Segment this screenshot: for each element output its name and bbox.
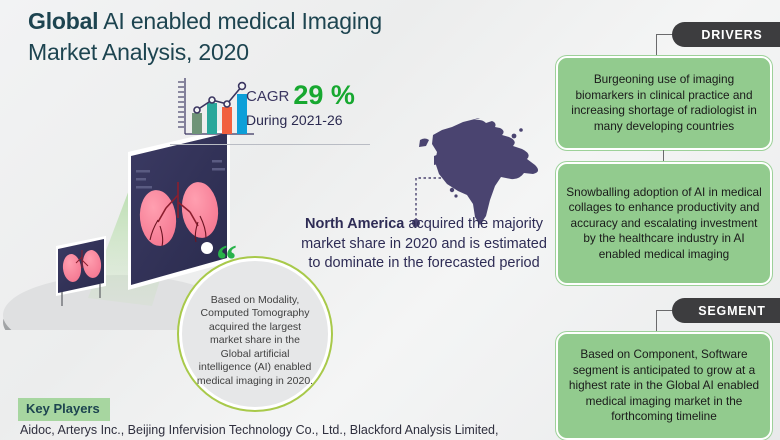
map-connector-dot-start [454,175,461,182]
cagr-mini-chart [176,76,256,138]
chart-bars [192,94,247,134]
drivers-connector-drop [656,34,657,57]
page-title: Global AI enabled medical Imaging Market… [28,6,538,68]
segment-box-1-text: Based on Component, Software segment is … [558,347,770,425]
quote-text: Based on Modality, Computed Tomography a… [182,294,328,389]
large-xray-screen [128,128,230,290]
key-players-list: Aidoc, Arterys Inc., Beijing Infervision… [20,423,560,437]
driver-box-1: Burgeoning use of imaging biomarkers in … [556,56,772,150]
cagr-label: CAGR [246,88,289,105]
cagr-divider [170,144,370,145]
page-title-rest: AI enabled medical Imaging [98,8,382,34]
region-highlight: North America [305,216,404,232]
pill-drivers[interactable]: DRIVERS [672,22,780,47]
key-players-heading: Key Players [18,398,110,421]
map-shape [419,118,538,225]
right-panel: DRIVERS Burgeoning use of imaging biomar… [548,0,780,440]
chart-trend-line [197,86,242,110]
box-connector-1 [663,150,664,162]
segment-box-1: Based on Component, Software segment is … [556,332,772,440]
quote-bubble: Based on Modality, Computed Tomography a… [179,258,331,410]
driver-box-2-text: Snowballing adoption of AI in medical co… [558,185,770,263]
cagr-period: During 2021-26 [246,112,376,128]
key-players-label: Key Players [26,401,100,416]
pill-segment[interactable]: SEGMENT [672,298,780,323]
page-title-line2: Market Analysis, 2020 [28,39,249,65]
north-america-map [400,118,545,230]
driver-box-2: Snowballing adoption of AI in medical co… [556,162,772,285]
driver-box-1-text: Burgeoning use of imaging biomarkers in … [558,72,770,134]
region-description: North America acquired the majority mark… [300,215,548,274]
cagr-value: 29 % [293,80,355,110]
infographic-root: Global AI enabled medical Imaging Market… [0,0,780,440]
pill-drivers-label: DRIVERS [701,28,762,42]
pill-segment-label: SEGMENT [698,304,765,318]
page-title-bold: Global [28,8,98,34]
segment-connector-drop [656,310,657,333]
cagr-card: CAGR29 % During 2021-26 [176,74,376,146]
